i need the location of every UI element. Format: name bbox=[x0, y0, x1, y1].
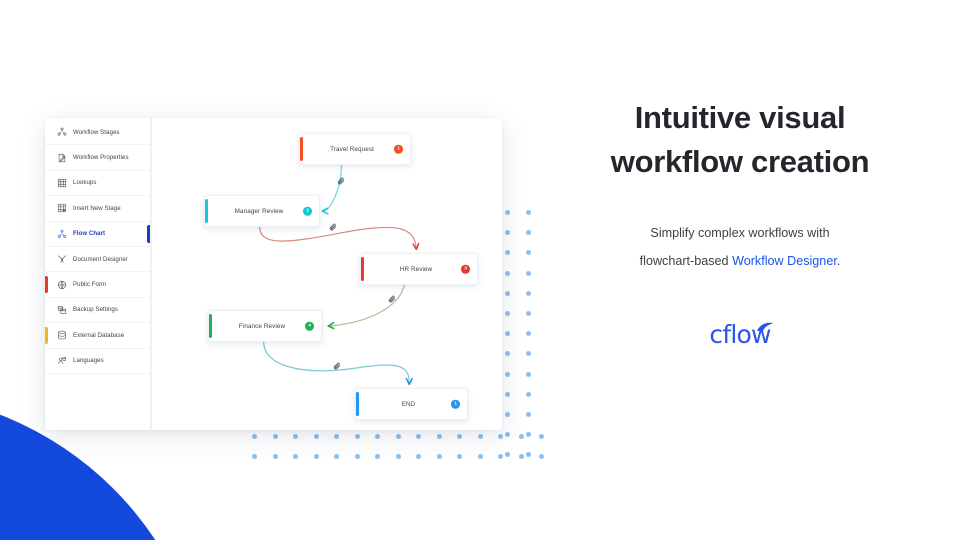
decorative-dot bbox=[314, 434, 319, 439]
decorative-dot bbox=[457, 454, 462, 459]
subtext-prefix: flowchart-based bbox=[640, 254, 732, 268]
node-badge: 4 bbox=[305, 322, 314, 331]
dot-grid-bottom bbox=[252, 434, 542, 464]
decorative-dot bbox=[478, 454, 483, 459]
decorative-dot bbox=[519, 434, 524, 439]
decorative-dot bbox=[498, 434, 503, 439]
insert-new-stage-icon bbox=[56, 203, 67, 214]
sidebar-item-label: Backup Settings bbox=[73, 306, 118, 313]
decorative-dot bbox=[526, 331, 531, 336]
decorative-dot bbox=[334, 434, 339, 439]
sidebar-active-marker bbox=[147, 225, 150, 243]
sidebar-item-document-designer[interactable]: Document Designer bbox=[45, 247, 150, 272]
decorative-dot bbox=[505, 311, 510, 316]
lookups-grid-icon bbox=[56, 177, 67, 188]
decorative-dot bbox=[505, 412, 510, 417]
node-badge: 1 bbox=[394, 145, 403, 154]
sidebar-item-label: Workflow Properties bbox=[73, 154, 129, 161]
promo-subtext: Simplify complex workflows with flowchar… bbox=[560, 219, 920, 276]
decorative-dot bbox=[375, 454, 380, 459]
sidebar-item-lookups[interactable]: Lookups bbox=[45, 171, 150, 196]
sidebar-item-accent-bar bbox=[45, 327, 48, 343]
paperclip-link-icon[interactable] bbox=[332, 361, 341, 370]
node-label: HR Review bbox=[361, 266, 477, 273]
decorative-dot bbox=[478, 434, 483, 439]
decorative-dot bbox=[314, 454, 319, 459]
node-label: END bbox=[356, 401, 467, 408]
workflow-designer-link[interactable]: Workflow Designer bbox=[732, 254, 837, 268]
decorative-dot bbox=[526, 210, 531, 215]
decorative-dot bbox=[526, 271, 531, 276]
subtext-line-1: Simplify complex workflows with bbox=[560, 219, 920, 247]
sidebar-item-label: Public Form bbox=[73, 281, 106, 288]
decorative-dot bbox=[334, 454, 339, 459]
workflow-stages-icon bbox=[56, 127, 67, 138]
flow-chart-icon bbox=[56, 228, 67, 239]
slide-root: Workflow StagesWorkflow PropertiesLookup… bbox=[0, 0, 960, 540]
node-accent-bar bbox=[300, 137, 303, 161]
paperclip-link-icon[interactable] bbox=[387, 294, 396, 303]
decorative-dot bbox=[526, 250, 531, 255]
external-database-icon bbox=[56, 330, 67, 341]
decorative-dot bbox=[355, 454, 360, 459]
node-accent-bar bbox=[205, 199, 208, 223]
headline-line-2: workflow creation bbox=[560, 140, 920, 184]
sidebar-item-languages[interactable]: Languages bbox=[45, 349, 150, 374]
node-label: Manager Review bbox=[205, 208, 319, 215]
decorative-dot bbox=[273, 434, 278, 439]
decorative-dot bbox=[252, 454, 257, 459]
decorative-dot bbox=[505, 331, 510, 336]
node-badge: 1 bbox=[451, 400, 460, 409]
subtext-suffix: . bbox=[837, 254, 841, 268]
sidebar-item-label: Lookups bbox=[73, 179, 96, 186]
decorative-dot bbox=[457, 434, 462, 439]
decorative-dot bbox=[526, 311, 531, 316]
decorative-dot bbox=[526, 351, 531, 356]
node-accent-bar bbox=[209, 314, 212, 338]
decorative-dot bbox=[505, 351, 510, 356]
flow-node-travel-request[interactable]: Travel Request 1 bbox=[299, 133, 411, 165]
node-label: Finance Review bbox=[209, 323, 321, 330]
promo-column: Intuitive visual workflow creation Simpl… bbox=[560, 96, 920, 349]
decorative-dot bbox=[498, 454, 503, 459]
dot-grid-right bbox=[505, 210, 555, 465]
sidebar-item-external-database[interactable]: External Database bbox=[45, 323, 150, 348]
decorative-dot bbox=[293, 434, 298, 439]
decorative-dot bbox=[437, 454, 442, 459]
sidebar-item-flow-chart[interactable]: Flow Chart bbox=[45, 222, 150, 247]
sidebar-item-workflow-properties[interactable]: Workflow Properties bbox=[45, 145, 150, 170]
sidebar-item-label: Insert New Stage bbox=[73, 205, 121, 212]
decorative-dot bbox=[526, 291, 531, 296]
flow-node-end[interactable]: END 1 bbox=[355, 388, 468, 420]
logo-swoosh-icon bbox=[756, 322, 774, 334]
decorative-dot bbox=[416, 454, 421, 459]
decorative-dot bbox=[273, 454, 278, 459]
sidebar-item-accent-bar bbox=[45, 276, 48, 292]
sidebar-item-public-form[interactable]: Public Form bbox=[45, 272, 150, 297]
decorative-dot bbox=[505, 271, 510, 276]
decorative-dot bbox=[293, 454, 298, 459]
brand-logo: cflow bbox=[560, 320, 920, 349]
headline-line-1: Intuitive visual bbox=[560, 96, 920, 140]
paperclip-link-icon[interactable] bbox=[336, 176, 345, 185]
decorative-dot bbox=[375, 434, 380, 439]
flow-node-finance-review[interactable]: Finance Review 4 bbox=[208, 310, 322, 342]
sidebar-item-label: Workflow Stages bbox=[73, 129, 120, 136]
node-badge: 2 bbox=[303, 207, 312, 216]
decorative-dot bbox=[416, 434, 421, 439]
workflow-properties-icon bbox=[56, 152, 67, 163]
decorative-dot bbox=[355, 434, 360, 439]
decorative-dot bbox=[505, 230, 510, 235]
document-designer-icon bbox=[56, 254, 67, 265]
node-badge: 3 bbox=[461, 265, 470, 274]
decorative-dot bbox=[505, 291, 510, 296]
decorative-dot bbox=[526, 412, 531, 417]
page-title: Intuitive visual workflow creation bbox=[560, 96, 920, 184]
decorative-dot bbox=[396, 434, 401, 439]
sidebar-item-workflow-stages[interactable]: Workflow Stages bbox=[45, 120, 150, 145]
public-form-icon bbox=[56, 279, 67, 290]
sidebar-item-label: Languages bbox=[73, 357, 104, 364]
decorative-dot bbox=[437, 434, 442, 439]
decorative-dot bbox=[519, 454, 524, 459]
node-accent-bar bbox=[361, 257, 364, 281]
node-accent-bar bbox=[356, 392, 359, 416]
sidebar-item-label: Document Designer bbox=[73, 256, 128, 263]
decorative-dot bbox=[526, 392, 531, 397]
sidebar-item-backup-settings[interactable]: Backup Settings bbox=[45, 298, 150, 323]
app-sidebar: Workflow StagesWorkflow PropertiesLookup… bbox=[45, 118, 151, 430]
flow-node-hr-review[interactable]: HR Review 3 bbox=[360, 253, 478, 285]
decorative-dot bbox=[505, 210, 510, 215]
flow-node-manager-review[interactable]: Manager Review 2 bbox=[204, 195, 320, 227]
sidebar-item-label: Flow Chart bbox=[73, 230, 105, 237]
subtext-line-2: flowchart-based Workflow Designer. bbox=[560, 247, 920, 275]
decorative-dot bbox=[526, 230, 531, 235]
workflow-designer-app-card: Workflow StagesWorkflow PropertiesLookup… bbox=[45, 118, 502, 430]
sidebar-item-insert-new-stage[interactable]: Insert New Stage bbox=[45, 196, 150, 221]
decorative-dot bbox=[252, 434, 257, 439]
flowchart-canvas[interactable]: Travel Request 1 Manager Review 2 HR Rev… bbox=[151, 118, 502, 430]
backup-settings-icon bbox=[56, 304, 67, 315]
paperclip-link-icon[interactable] bbox=[328, 222, 337, 231]
decorative-dot bbox=[526, 372, 531, 377]
decorative-dot bbox=[539, 434, 544, 439]
sidebar-item-label: External Database bbox=[73, 332, 124, 339]
decorative-dot bbox=[505, 372, 510, 377]
decorative-dot bbox=[505, 392, 510, 397]
decorative-dot bbox=[505, 250, 510, 255]
decorative-dot bbox=[396, 454, 401, 459]
languages-icon bbox=[56, 355, 67, 366]
